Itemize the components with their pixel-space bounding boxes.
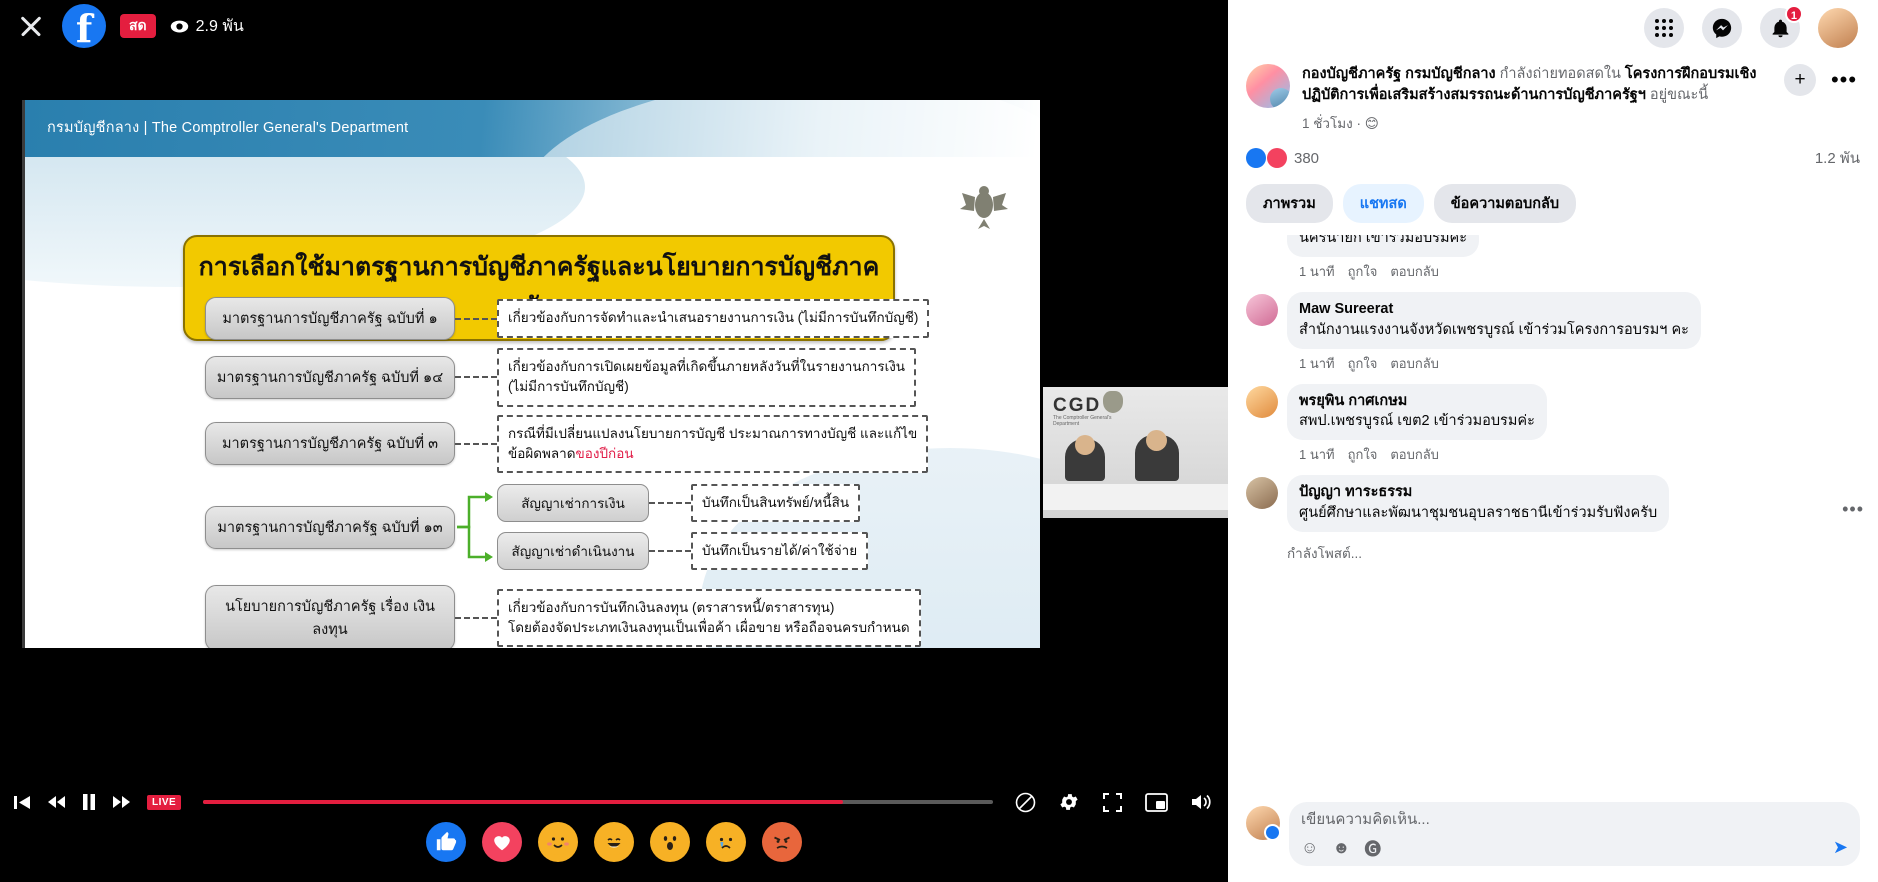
note-highlight: ของปีก่อน xyxy=(576,446,634,461)
captions-off-icon[interactable] xyxy=(1015,792,1036,813)
slide-body: การเลือกใช้มาตรฐานการบัญชีภาครัฐและนโยบา… xyxy=(25,157,1040,648)
love-reaction-icon xyxy=(1267,148,1287,168)
note-box: เกี่ยวข้องกับการบันทึกเงินลงทุน (ตราสารห… xyxy=(497,589,921,648)
live-badge: สด xyxy=(120,14,156,38)
messenger-icon[interactable] xyxy=(1702,8,1742,48)
tab-overview[interactable]: ภาพรวม xyxy=(1246,184,1333,223)
sad-reaction[interactable] xyxy=(706,822,746,862)
love-reaction[interactable] xyxy=(482,822,522,862)
volume-icon[interactable] xyxy=(1190,792,1214,812)
comment-text: นครนายก เขาร่วมอบรมคะ xyxy=(1299,235,1467,246)
connector-dash xyxy=(649,550,691,552)
comment-author[interactable]: Maw Sureerat xyxy=(1299,299,1689,319)
video-topbar: f สด 2.9 พัน xyxy=(0,0,1228,52)
comment-author[interactable]: พรยุพิน กาศเกษม xyxy=(1299,391,1535,411)
note-box: กรณีที่มีเปลี่ยนแปลงนโยบายการบัญชี ประมา… xyxy=(497,415,928,474)
reaction-count: 380 xyxy=(1294,150,1319,167)
post-emoji: 😊 xyxy=(1365,116,1379,131)
slide-header: กรมบัญชีกลาง | The Comptroller General's… xyxy=(25,100,1040,157)
standard-box: มาตรฐานการบัญชีภาครัฐ ฉบับที่ ๓ xyxy=(205,422,455,465)
fast-forward-icon[interactable] xyxy=(112,795,131,809)
comment-reply-button[interactable]: ตอบกลับ xyxy=(1390,261,1439,282)
follow-page-button[interactable]: + xyxy=(1784,64,1816,96)
connector-dash xyxy=(455,443,497,445)
comment-meta: 1 นาที ถูกใจ ตอบกลับ xyxy=(1287,440,1860,465)
avatar[interactable] xyxy=(1246,477,1278,509)
note-box: บันทึกเป็นสินทรัพย์/หนี้สิน xyxy=(691,484,860,522)
list-item: Maw Sureerat สำนักงานแรงงานจังหวัดเพชรบู… xyxy=(1246,292,1860,374)
video-controls: LIVE xyxy=(0,782,1228,882)
expand-icon[interactable] xyxy=(1102,792,1123,813)
comment-bubble: Maw Sureerat สำนักงานแรงงานจังหวัดเพชรบู… xyxy=(1287,292,1701,349)
standard-box: มาตรฐานการบัญชีภาครัฐ ฉบับที่ ๑๓ xyxy=(205,506,455,549)
list-item: นครนายก เขาร่วมอบรมคะ 1 นาที ถูกใจ ตอบกล… xyxy=(1246,235,1860,282)
comment-body: Maw Sureerat สำนักงานแรงงานจังหวัดเพชรบู… xyxy=(1287,292,1860,374)
comment-like-button[interactable]: ถูกใจ xyxy=(1348,353,1378,374)
connector-dash xyxy=(455,617,497,619)
app-grid-icon[interactable] xyxy=(1644,8,1684,48)
avatar[interactable] xyxy=(1246,294,1278,326)
comment-bubble: ปัญญา ทาระธรรม ศูนย์ศึกษาและพัฒนาชุมชนอุ… xyxy=(1287,475,1669,532)
post-timestamp: 1 ชั่วโมง xyxy=(1302,116,1353,131)
note-line-with-highlight: ข้อผิดพลาดของปีก่อน xyxy=(508,444,917,464)
comment-input[interactable] xyxy=(1301,811,1848,828)
speaker-video-thumbnail[interactable]: CGD The Comptroller General'sDepartment xyxy=(1043,365,1228,540)
live-status-text: กำลังถ่ายทอดสดใน xyxy=(1500,66,1621,82)
note-line: เกี่ยวข้องกับการเปิดเผยข้อมูลที่เกิดขึ้น… xyxy=(508,357,905,377)
gif-icon[interactable]: 🅖 xyxy=(1364,835,1381,860)
diagram-row: มาตรฐานการบัญชีภาครัฐ ฉบับที่ ๑ เกี่ยวข้… xyxy=(25,297,1040,340)
rewind-icon[interactable] xyxy=(47,795,66,809)
post-options-button[interactable]: ••• xyxy=(1828,64,1860,96)
diagram-row: นโยบายการบัญชีภาครัฐ เรื่อง เงินลงทุน เก… xyxy=(25,585,1040,648)
haha-reaction[interactable] xyxy=(594,822,634,862)
emoji-icon[interactable]: ☺ xyxy=(1301,838,1318,858)
lease-diagram-group: มาตรฐานการบัญชีภาครัฐ ฉบับที่ ๑๓ xyxy=(25,481,1040,573)
comment-author[interactable]: ปัญญา ทาระธรรม xyxy=(1299,482,1657,502)
comment-bubble: พรยุพิน กาศเกษม สพป.เพชรบูรณ์ เขต2 เข้าร… xyxy=(1287,384,1547,441)
comment-meta: 1 นาที ถูกใจ ตอบกลับ xyxy=(1287,257,1860,282)
lease-sub-row: สัญญาเช่าการเงิน บันทึกเป็นสินทรัพย์/หนี… xyxy=(497,484,868,522)
list-item: พรยุพิน กาศเกษม สพป.เพชรบูรณ์ เขต2 เข้าร… xyxy=(1246,384,1860,466)
comment-like-button[interactable]: ถูกใจ xyxy=(1348,444,1378,465)
comment-time: 1 นาที xyxy=(1299,444,1335,465)
note-box: เกี่ยวข้องกับการเปิดเผยข้อมูลที่เกิดขึ้น… xyxy=(497,348,916,407)
lease-sub-row: สัญญาเช่าดำเนินงาน บันทึกเป็นรายได้/ค่าใ… xyxy=(497,532,868,570)
comment-body: นครนายก เขาร่วมอบรมคะ 1 นาที ถูกใจ ตอบกล… xyxy=(1287,235,1860,282)
connector-dash xyxy=(455,376,497,378)
gear-icon[interactable] xyxy=(1058,791,1080,813)
video-scrubber[interactable] xyxy=(203,800,993,804)
post-stats-row: 380 1.2 พัน xyxy=(1228,138,1878,180)
scrubber-progress xyxy=(203,800,843,804)
right-controls xyxy=(1015,791,1214,813)
comment-text: ศูนย์ศึกษาและพัฒนาชุมชนอุบลราชธานีเข้าร่… xyxy=(1299,505,1657,521)
scrubber-row: LIVE xyxy=(0,788,1228,816)
notifications-icon[interactable]: 1 xyxy=(1760,8,1800,48)
green-branch-arrows xyxy=(455,481,497,573)
comments-list[interactable]: นครนายก เขาร่วมอบรมคะ 1 นาที ถูกใจ ตอบกล… xyxy=(1228,235,1878,792)
lease-type-box: สัญญาเช่าการเงิน xyxy=(497,484,649,522)
composer-icons: ☺ ☻ 🅖 ➤ xyxy=(1301,829,1848,860)
tab-live-chat[interactable]: แชทสด xyxy=(1343,184,1424,223)
department-name: กรมบัญชีกลาง | The Comptroller General's… xyxy=(47,116,408,139)
list-item: ปัญญา ทาระธรรม ศูนย์ศึกษาและพัฒนาชุมชนอุ… xyxy=(1246,475,1860,532)
picture-in-picture-icon[interactable] xyxy=(1145,793,1168,812)
connector-dash xyxy=(455,318,497,320)
branch-arrow-icon xyxy=(455,481,497,573)
page-avatar[interactable] xyxy=(1246,64,1290,108)
skip-to-start-icon[interactable] xyxy=(14,795,31,810)
composer-box[interactable]: ☺ ☻ 🅖 ➤ xyxy=(1289,802,1860,866)
note-line: โดยต้องจัดประเภทเงินลงทุนเป็นเพื่อค้า เผ… xyxy=(508,618,910,638)
comment-reply-button[interactable]: ตอบกลับ xyxy=(1390,353,1439,374)
facebook-live-page: f สด 2.9 พัน กรมบัญชีกลาง | The Comptrol… xyxy=(0,0,1878,882)
comment-time: 1 นาที xyxy=(1299,261,1335,282)
sidebar-topbar: 1 xyxy=(1228,0,1878,56)
video-pane: f สด 2.9 พัน กรมบัญชีกลาง | The Comptrol… xyxy=(0,0,1228,882)
lease-sub-items: สัญญาเช่าการเงิน บันทึกเป็นสินทรัพย์/หนี… xyxy=(497,484,868,571)
note-line: เกี่ยวข้องกับการจัดทำและนำเสนอรายงานการเ… xyxy=(508,308,918,328)
note-line: เกี่ยวข้องกับการบันทึกเงินลงทุน (ตราสารห… xyxy=(508,598,910,618)
view-count: 1.2 พัน xyxy=(1815,146,1860,170)
comment-text: สำนักงานแรงงานจังหวัดเพชรบูรณ์ เข้าร่วมโ… xyxy=(1299,322,1689,338)
comment-meta: 1 นาที ถูกใจ ตอบกลับ xyxy=(1287,349,1860,374)
diagram-row: มาตรฐานการบัญชีภาครัฐ ฉบับที่ ๑๔ เกี่ยวข… xyxy=(25,348,1040,407)
presentation-slide: กรมบัญชีกลาง | The Comptroller General's… xyxy=(22,100,1040,648)
note-box: บันทึกเป็นรายได้/ค่าใช้จ่าย xyxy=(691,532,868,570)
pause-icon[interactable] xyxy=(82,794,96,810)
standard-box: มาตรฐานการบัญชีภาครัฐ ฉบับที่ ๑๔ xyxy=(205,356,455,399)
note-line: (ไม่มีการบันทึกบัญชี) xyxy=(508,377,905,397)
reactions-bar xyxy=(0,814,1228,870)
garuda-emblem-icon xyxy=(958,179,1010,231)
avatar[interactable] xyxy=(1246,806,1280,840)
note-line: กรณีที่มีเปลี่ยนแปลงนโยบายการบัญชี ประมา… xyxy=(508,424,917,444)
post-header: กองบัญชีภาครัฐ กรมบัญชีกลาง กำลังถ่ายทอด… xyxy=(1228,56,1878,112)
user-avatar[interactable] xyxy=(1818,8,1858,48)
close-icon[interactable] xyxy=(14,9,48,43)
comment-options-button[interactable]: ••• xyxy=(1842,499,1864,520)
live-tag[interactable]: LIVE xyxy=(147,795,181,810)
angry-reaction[interactable] xyxy=(762,822,802,862)
sticker-icon[interactable]: ☻ xyxy=(1332,838,1350,858)
post-timestamp-row: 1 ชั่วโมง · 😊 xyxy=(1228,112,1878,138)
reaction-summary[interactable]: 380 xyxy=(1246,148,1319,168)
diagram-rows: มาตรฐานการบัญชีภาครัฐ ฉบับที่ ๑ เกี่ยวข้… xyxy=(25,297,1040,648)
page-name[interactable]: กองบัญชีภาครัฐ กรมบัญชีกลาง xyxy=(1302,66,1496,82)
comment-bubble: นครนายก เขาร่วมอบรมคะ xyxy=(1287,235,1479,257)
right-sidebar: 1 กองบัญชีภาครัฐ กรมบัญชีกลาง กำลังถ่ายท… xyxy=(1228,0,1878,882)
typing-status: กำลังโพสต์... xyxy=(1246,542,1860,572)
comment-text: สพป.เพชรบูรณ์ เขต2 เข้าร่วมอบรมค่ะ xyxy=(1299,413,1535,429)
comment-body: ปัญญา ทาระธรรม ศูนย์ศึกษาและพัฒนาชุมชนอุ… xyxy=(1287,475,1860,532)
wow-reaction[interactable] xyxy=(650,822,690,862)
care-reaction[interactable] xyxy=(538,822,578,862)
sidebar-tabs: ภาพรวม แชทสด ข้อความตอบกลับ xyxy=(1228,180,1878,235)
facebook-f-glyph: f xyxy=(62,4,106,48)
lease-type-box: สัญญาเช่าดำเนินงาน xyxy=(497,532,649,570)
post-description: กองบัญชีภาครัฐ กรมบัญชีกลาง กำลังถ่ายทอด… xyxy=(1302,64,1772,108)
note-line: ข้อผิดพลาด xyxy=(508,446,576,461)
send-icon[interactable]: ➤ xyxy=(1833,837,1848,858)
connector-dash xyxy=(649,502,691,504)
comment-body: พรยุพิน กาศเกษม สพป.เพชรบูรณ์ เขต2 เข้าร… xyxy=(1287,384,1860,466)
facebook-logo-icon[interactable]: f xyxy=(62,4,106,48)
tab-replies[interactable]: ข้อความตอบกลับ xyxy=(1434,184,1576,223)
eye-icon xyxy=(170,20,189,33)
comment-reply-button[interactable]: ตอบกลับ xyxy=(1390,444,1439,465)
diagram-row: มาตรฐานการบัญชีภาครัฐ ฉบับที่ ๓ กรณีที่ม… xyxy=(25,415,1040,474)
like-reaction[interactable] xyxy=(426,822,466,862)
note-box: เกี่ยวข้องกับการจัดทำและนำเสนอรายงานการเ… xyxy=(497,299,929,337)
notification-badge: 1 xyxy=(1785,5,1803,23)
comment-time: 1 นาที xyxy=(1299,353,1335,374)
standard-box: มาตรฐานการบัญชีภาครัฐ ฉบับที่ ๑ xyxy=(205,297,455,340)
avatar[interactable] xyxy=(1246,386,1278,418)
standard-box: นโยบายการบัญชีภาครัฐ เรื่อง เงินลงทุน xyxy=(205,585,455,648)
comment-composer: ☺ ☻ 🅖 ➤ xyxy=(1228,792,1878,882)
viewer-count: 2.9 พัน xyxy=(170,14,244,39)
header-swoosh-decoration xyxy=(518,100,1040,157)
status-tail: อยู่ขณะนี้ xyxy=(1650,87,1708,103)
comment-like-button[interactable]: ถูกใจ xyxy=(1348,261,1378,282)
like-reaction-icon xyxy=(1246,148,1266,168)
viewer-count-label: 2.9 พัน xyxy=(196,14,244,39)
